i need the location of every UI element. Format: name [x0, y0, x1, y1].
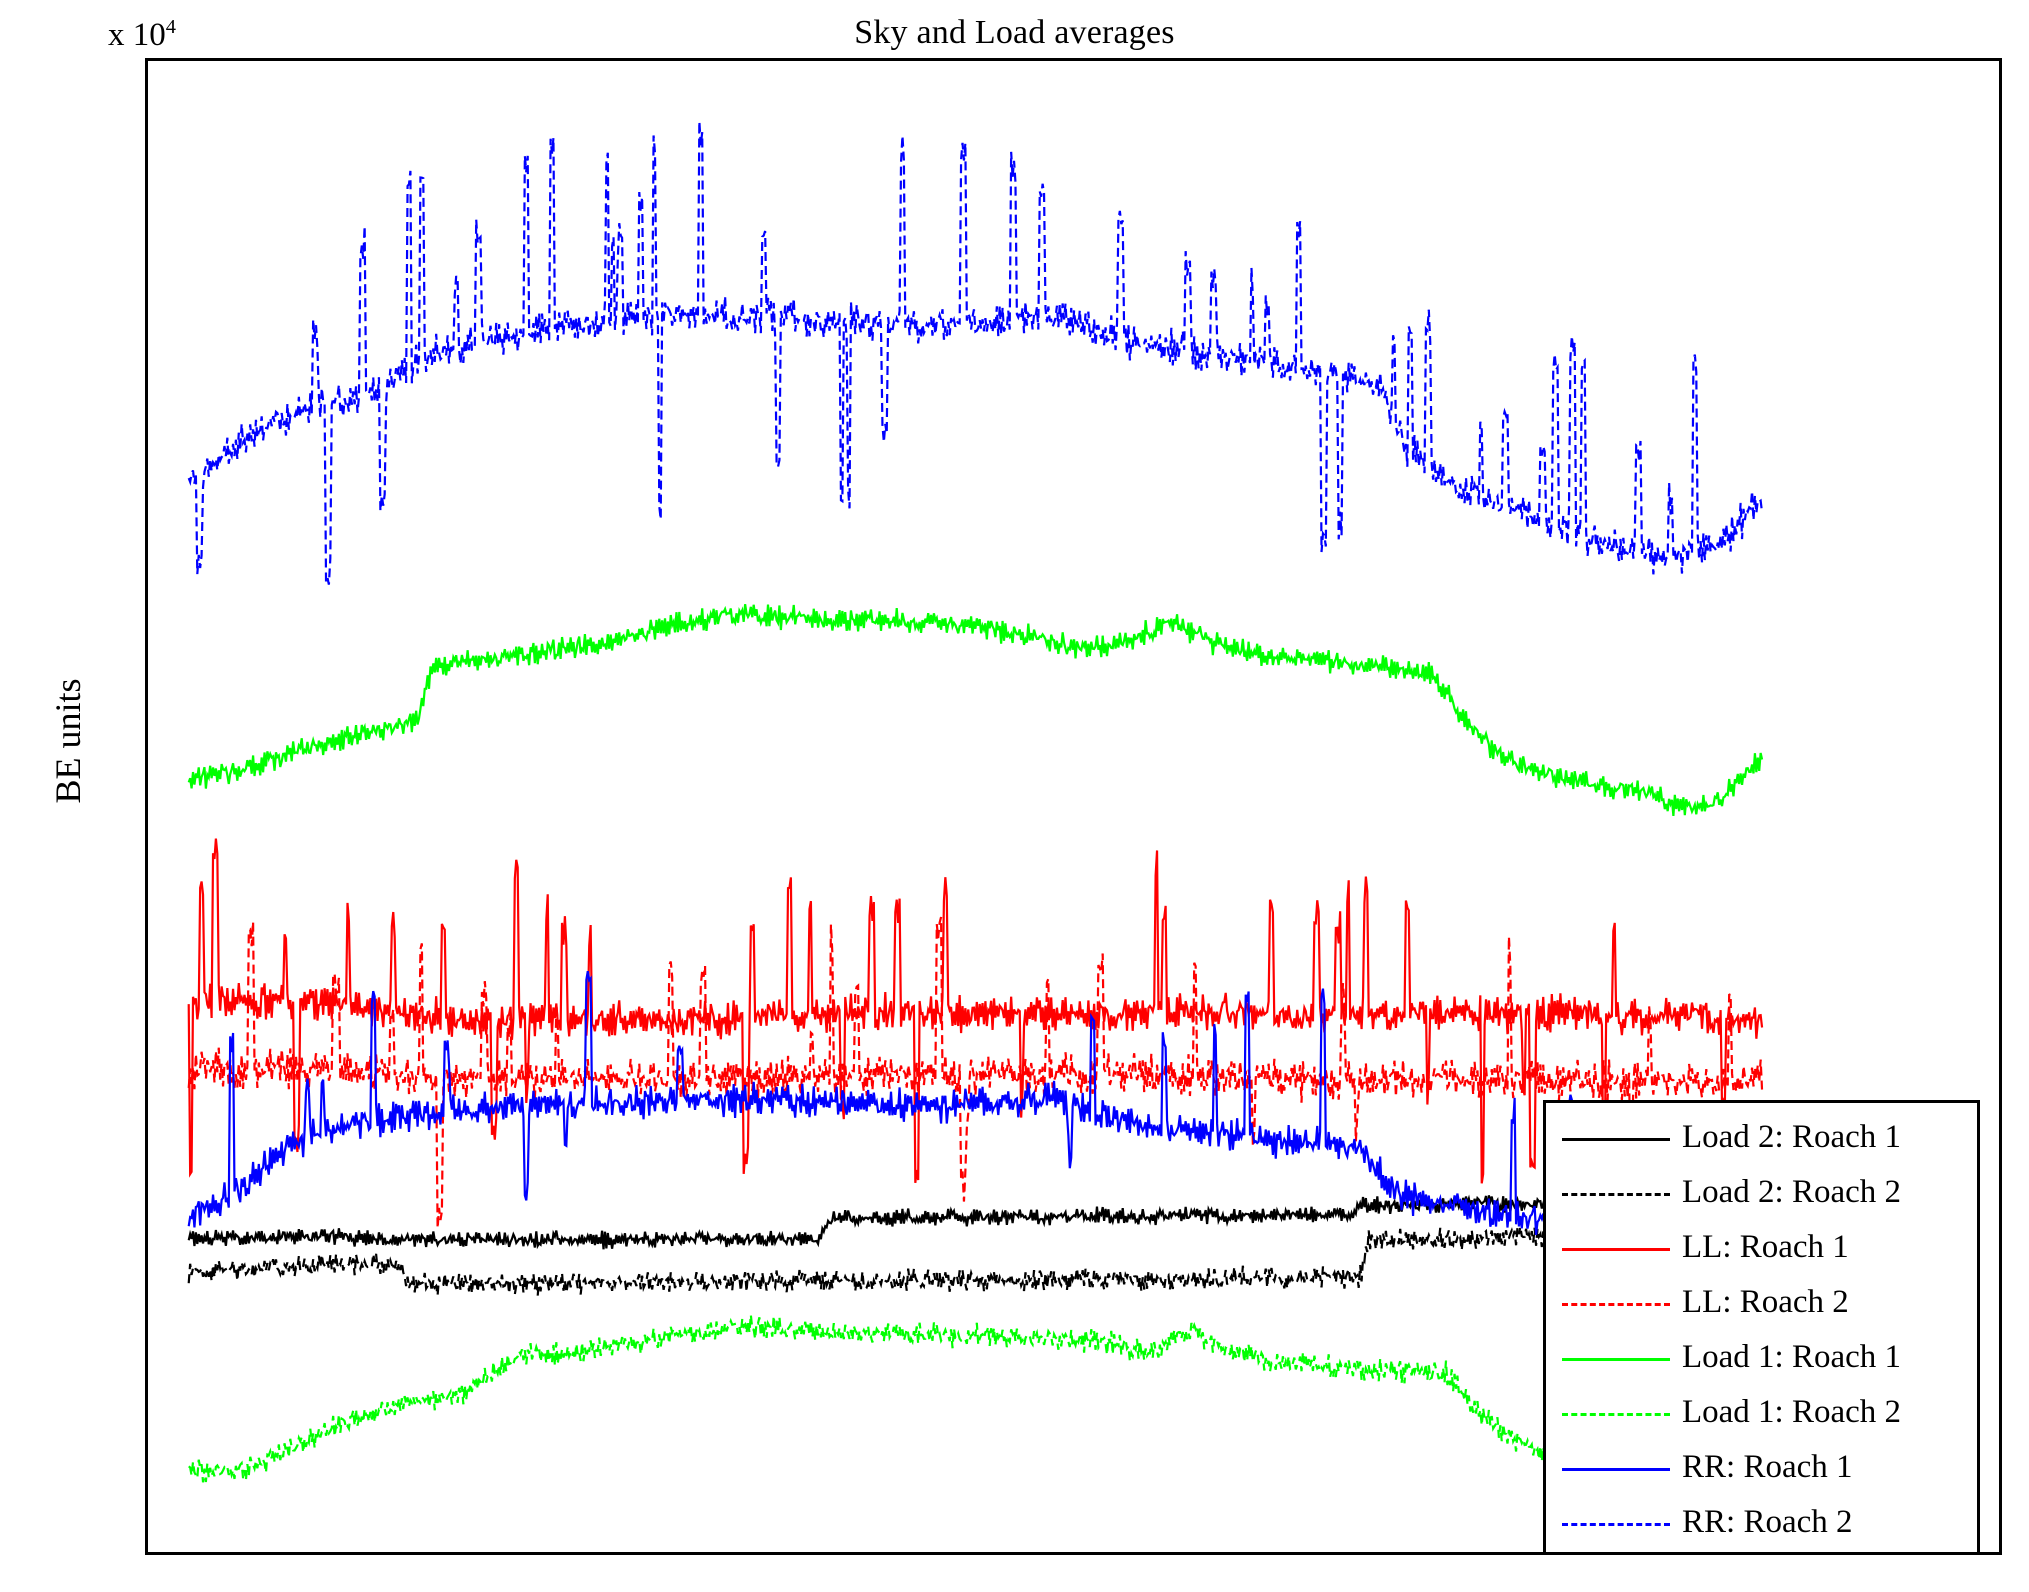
legend-line-swatch	[1562, 1292, 1670, 1314]
legend-item-5[interactable]: Load 1: Roach 1	[1546, 1330, 1977, 1385]
page-title: Sky and Load averages	[0, 14, 2029, 52]
figure-canvas: Sky and Load averages x 104 BE units 98.…	[0, 0, 2029, 1592]
legend-item-label: Load 2: Roach 1	[1682, 1121, 1901, 1154]
legend-item-4[interactable]: LL: Roach 2	[1546, 1275, 1977, 1330]
legend-item-label: Load 1: Roach 2	[1682, 1396, 1901, 1429]
data-series-5	[189, 604, 1762, 816]
legend-item-3[interactable]: LL: Roach 1	[1546, 1220, 1977, 1275]
data-series-6	[189, 1315, 1762, 1521]
legend-line-swatch	[1562, 1512, 1670, 1534]
data-series-3	[189, 839, 1762, 1184]
legend-item-label: LL: Roach 2	[1682, 1286, 1849, 1319]
exponent-power: 4	[166, 16, 176, 38]
legend-item-label: Load 1: Roach 1	[1682, 1341, 1901, 1374]
data-series-2	[189, 1218, 1762, 1295]
legend-box[interactable]: Load 2: Roach 1Load 2: Roach 2LL: Roach …	[1543, 1100, 1980, 1555]
legend-item-label: RR: Roach 2	[1682, 1506, 1853, 1539]
legend-item-8[interactable]: RR: Roach 2	[1546, 1495, 1977, 1550]
legend-line-swatch	[1562, 1347, 1670, 1369]
legend-item-1[interactable]: Load 2: Roach 1	[1546, 1110, 1977, 1165]
data-series-4	[189, 917, 1762, 1228]
legend-item-6[interactable]: Load 1: Roach 2	[1546, 1385, 1977, 1440]
legend-line-swatch	[1562, 1237, 1670, 1259]
legend-item-label: RR: Roach 1	[1682, 1451, 1853, 1484]
legend-item-label: Load 2: Roach 2	[1682, 1176, 1901, 1209]
legend-line-swatch	[1562, 1127, 1670, 1149]
legend-line-swatch	[1562, 1402, 1670, 1424]
legend-item-label: LL: Roach 1	[1682, 1231, 1849, 1264]
y-axis-exponent-multiplier: x 104	[108, 16, 176, 54]
legend-line-swatch	[1562, 1457, 1670, 1479]
legend-item-2[interactable]: Load 2: Roach 2	[1546, 1165, 1977, 1220]
data-series-8	[189, 121, 1762, 584]
exponent-prefix: x 10	[108, 17, 166, 53]
legend-item-7[interactable]: RR: Roach 1	[1546, 1440, 1977, 1495]
y-axis-label: BE units	[47, 611, 89, 871]
legend-line-swatch	[1562, 1182, 1670, 1204]
